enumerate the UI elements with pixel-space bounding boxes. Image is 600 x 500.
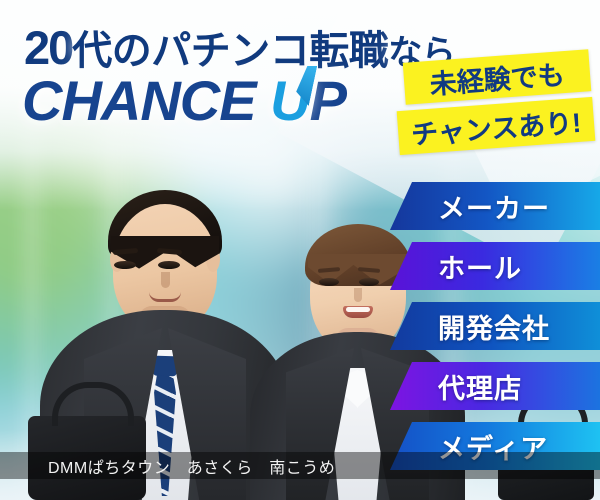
logo-word-chance: CHANCE — [22, 69, 256, 132]
woman-teeth — [346, 307, 370, 312]
man-mouth — [149, 292, 181, 302]
credit-strip: DMMぱちタウン あさくら 南こうめ — [0, 452, 600, 479]
category-tag-development-company-label: 開発会社 — [438, 307, 550, 346]
headline-main: 代のパチンコ転職 — [72, 29, 388, 73]
man-eye-left — [114, 261, 136, 269]
category-tag-agency[interactable]: 代理店 — [390, 362, 600, 410]
category-tag-maker[interactable]: メーカー — [390, 182, 600, 230]
logo-letter-u: U — [270, 68, 309, 133]
woman-nose — [354, 288, 362, 302]
category-tag-list: メーカー ホール 開発会社 代理店 メディア — [390, 182, 600, 470]
man-eye-right — [158, 261, 180, 269]
woman-eye-right — [359, 278, 379, 286]
category-tag-hall[interactable]: ホール — [390, 242, 600, 290]
headline-number: 20 — [24, 21, 72, 74]
category-tag-hall-label: ホール — [438, 247, 522, 286]
category-tag-maker-label: メーカー — [438, 187, 550, 226]
woman-eye-left — [319, 278, 339, 286]
recruitment-banner: 20代のパチンコ転職なら CHANCE UP 未経験でも チャンスあり! メーカ… — [0, 0, 600, 500]
category-tag-development-company[interactable]: 開発会社 — [390, 302, 600, 350]
credit-text: DMMぱちタウン あさくら 南こうめ — [48, 454, 335, 478]
category-tag-agency-label: 代理店 — [438, 367, 522, 406]
logo-letter-p: P — [310, 69, 346, 132]
chance-up-logo: CHANCE UP — [22, 68, 346, 133]
man-nose — [161, 272, 170, 288]
